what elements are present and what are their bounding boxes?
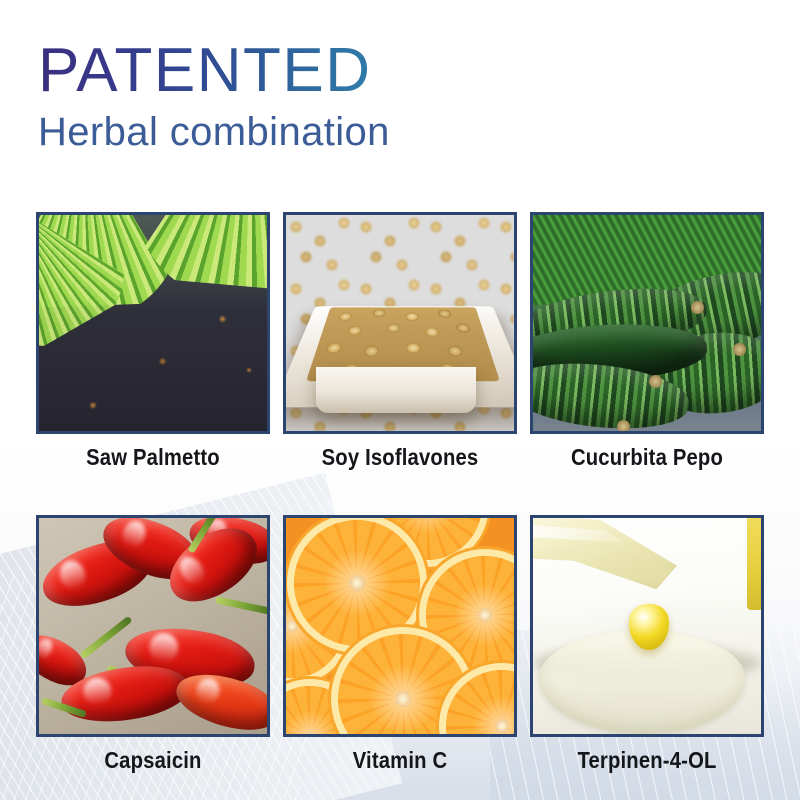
terpinen-4-ol-thumbnail [530,515,764,737]
vitamin-c-thumbnail [283,515,517,737]
ingredient-card-saw-palmetto[interactable]: Saw Palmetto [36,212,270,471]
ingredient-card-soy-isoflavones[interactable]: Soy Isoflavones [283,212,517,471]
orange-slices-photo [286,518,514,734]
ingredient-grid: Saw Palmetto Soy Isoflavones [36,212,764,774]
page-subtitle: Herbal combination [38,110,598,154]
ingredient-row-1: Saw Palmetto Soy Isoflavones [36,212,764,471]
soybeans-in-white-bowl-photo [286,215,514,431]
essential-oil-drop-photo [533,518,761,734]
soy-isoflavones-thumbnail [283,212,517,434]
ingredient-card-capsaicin[interactable]: Capsaicin [36,515,270,774]
ingredient-card-terpinen-4-ol[interactable]: Terpinen-4-OL [530,515,764,774]
zucchini-stem-scar-4 [617,420,630,431]
ingredient-card-vitamin-c[interactable]: Vitamin C [283,515,517,774]
page-title: PATENTED [38,38,598,104]
patented-herbal-combination-poster: PATENTED Herbal combination Saw Palmetto [0,0,800,800]
cucurbita-pepo-thumbnail [530,212,764,434]
red-chili-peppers-photo [39,518,267,734]
green-zucchini-squash-photo [533,215,761,431]
yellow-bottle-edge [747,518,761,610]
ingredient-label-capsaicin: Capsaicin [50,747,256,774]
ingredient-label-vitamin-c: Vitamin C [297,747,503,774]
ingredient-label-saw-palmetto: Saw Palmetto [50,444,256,471]
capsaicin-thumbnail [36,515,270,737]
zucchini-stem-scar-3 [649,375,662,388]
ingredient-card-cucurbita-pepo[interactable]: Cucurbita Pepo [530,212,764,471]
zucchini-stem-scar-2 [733,343,746,356]
chili-stem-3 [215,596,267,614]
ingredient-row-2: Capsaicin Vitamin C [36,515,764,774]
saw-palmetto-thumbnail [36,212,270,434]
ingredient-label-terpinen-4-ol: Terpinen-4-OL [544,747,750,774]
saw-palmetto-berries-photo [39,215,267,431]
zucchini-stem-scar-1 [691,301,704,314]
white-bowl-front-face [316,367,476,413]
ingredient-label-cucurbita-pepo: Cucurbita Pepo [544,444,750,471]
orange-slice-1 [294,520,420,646]
header: PATENTED Herbal combination [38,38,598,154]
ingredient-label-soy-isoflavones: Soy Isoflavones [297,444,503,471]
